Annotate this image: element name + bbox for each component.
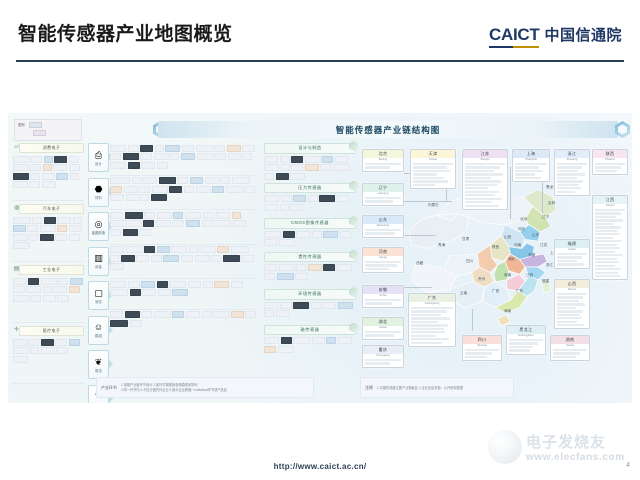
sensor-type-label: 设计与制造: [264, 143, 356, 154]
city-label: 广西: [492, 289, 499, 294]
city-label: 江苏: [540, 243, 547, 248]
sensor-type-block: 压力传感器: [264, 183, 356, 216]
brand-underline-blue: [489, 46, 513, 48]
sensor-type-block: 环境传感器: [264, 289, 356, 322]
note-lines: 1.按照产业链环节划分 2.各环节按照营收规模顺序排列 3.同一环节内 4.不区…: [121, 383, 227, 393]
industry-map-poster: 图例 智能传感器产业链结构图 ▱ 消费电子: [8, 113, 632, 403]
province-box[interactable]: 黑龙江 Heilongjiang: [506, 325, 546, 355]
algorithm-icon: ❦: [95, 357, 103, 367]
note-label: 产业环节: [97, 385, 121, 391]
province-company-list: [363, 259, 403, 272]
poster-legend: 图例: [14, 119, 82, 141]
city-label: 广东: [516, 289, 523, 294]
city-label: 青海: [438, 243, 445, 248]
province-company-list: [411, 161, 455, 188]
note-line: 3.同一环节内 4.不区分国内外企业 5.部分企业跨越一individual环节…: [121, 388, 227, 392]
hexagon-icon: [348, 249, 359, 261]
category-logo-grid: [12, 277, 84, 323]
city-label: 山东: [532, 233, 539, 238]
province-box[interactable]: 湖北 Hubei: [362, 317, 404, 340]
chain-node: ▥ 封装: [88, 247, 109, 276]
province-box[interactable]: 四川 Sichuan: [462, 335, 502, 361]
logo-row: [110, 176, 258, 211]
province-box[interactable]: 湖南 Hunan: [550, 335, 590, 361]
province-company-list: [363, 161, 403, 170]
chain-node-label: 设计: [95, 161, 102, 166]
watermark-logo-icon: [488, 430, 522, 464]
application-category-column: ▱ 消费电子 ◍ 汽车电子: [12, 143, 84, 387]
connector-line: [472, 309, 473, 331]
province-box[interactable]: 浙江 Zhejiang: [554, 149, 590, 196]
city-label: 江西: [526, 273, 533, 278]
package-icon: ▥: [94, 253, 103, 263]
poster-banner: 智能传感器产业链结构图: [158, 121, 618, 138]
city-label: 北京: [520, 217, 527, 222]
logo-row: [110, 279, 258, 310]
hexagon-icon-right: [612, 119, 632, 140]
factory-icon: ▤: [12, 263, 21, 274]
city-label: 云南: [460, 291, 467, 296]
category-block: ✛ 医疗电子: [12, 326, 84, 384]
brand-abbreviation: CAICT: [489, 25, 539, 48]
province-box[interactable]: 广东 Guangdong: [408, 293, 456, 347]
hexagon-icon: [348, 322, 359, 334]
sensor-type-block: 惯性传感器: [264, 252, 356, 287]
note-box-industry: 产业环节 1.按照产业链环节划分 2.各环节按照营收规模顺序排列 3.同一环节内…: [96, 377, 314, 398]
city-label: 福建: [542, 279, 549, 284]
legend-swatch-company: [33, 130, 46, 136]
province-company-list: [363, 195, 403, 204]
design-icon: ⎙: [95, 150, 102, 160]
province-box[interactable]: 山东 Shandong: [362, 215, 404, 238]
value-chain-column: ⎙ 设计 ⬣ 材料 ◎ 晶圆制造 ▥ 封装 ▢ 测试 ☺ 模组 ❦ 算法 ✎ 整: [88, 143, 107, 403]
brand-name-cn: 中国信通院: [544, 24, 622, 45]
medical-icon: ✛: [12, 324, 21, 335]
city-label: 湖南: [504, 273, 511, 278]
sensor-type-logos: [264, 156, 356, 180]
company-logo-rows: [110, 143, 258, 339]
city-label: 海南: [504, 309, 511, 314]
province-company-list: [409, 305, 455, 346]
province-box[interactable]: 天津 Tianjin: [410, 149, 456, 189]
wafer-icon: ◎: [95, 219, 103, 229]
poster-banner-title: 智能传感器产业链结构图: [158, 121, 618, 138]
city-label: 四川: [466, 259, 473, 264]
province-company-list: [463, 347, 501, 360]
watermark-url: www.elecfans.com: [526, 452, 625, 463]
category-label: 医疗电子: [19, 326, 84, 336]
material-icon: ⬣: [95, 184, 103, 194]
province-box[interactable]: 辽宁 Liaoning: [362, 183, 404, 206]
caict-logo: CAICT 中国信通院: [489, 24, 622, 48]
sensor-type-column: 设计与制造 压力传感器 CMOS图像传感器: [264, 143, 356, 362]
chain-node-label: 封装: [95, 264, 102, 269]
city-label: 河北: [518, 227, 525, 232]
province-company-list: [555, 161, 589, 195]
connector-line: [404, 287, 432, 288]
city-label: 浙江: [546, 263, 553, 268]
module-icon: ☺: [94, 322, 103, 332]
city-label: 辽宁: [542, 215, 549, 220]
category-label: 消费电子: [19, 143, 84, 153]
connector-line: [510, 167, 511, 219]
category-logo-grid: [12, 155, 84, 201]
city-label: 西藏: [416, 261, 423, 266]
city-label: 河南: [514, 243, 521, 248]
connector-line: [404, 201, 452, 202]
hexagon-icon: [348, 180, 359, 192]
logo-row: [110, 245, 258, 280]
province-company-list: [593, 161, 627, 174]
category-block: ◍ 汽车电子: [12, 204, 84, 262]
brand-underline-gold: [513, 46, 539, 48]
legend-row-2: [15, 128, 81, 136]
chain-node: ◎ 晶圆制造: [88, 212, 109, 241]
province-box[interactable]: 福建 Fujian: [554, 239, 590, 269]
legend-title: 图例: [18, 123, 25, 128]
province-box[interactable]: 上海 Shanghai: [512, 149, 550, 182]
city-label: 陕西: [492, 245, 499, 250]
province-box[interactable]: 河南 Henan: [362, 247, 404, 273]
connector-line: [404, 235, 436, 236]
sensor-type-block: 设计与制造: [264, 143, 356, 180]
hexagon-icon: [348, 215, 359, 227]
logo-row: [110, 310, 258, 340]
chain-node: ▢ 测试: [88, 281, 109, 310]
city-label: 吉林: [548, 201, 555, 206]
province-box[interactable]: 江苏 Jiangsu: [462, 149, 508, 210]
city-label: 湖北: [508, 257, 515, 262]
city-label: 安徽: [528, 253, 535, 258]
chain-node-label: 材料: [95, 195, 102, 200]
sensor-type-block: CMOS图像传感器: [264, 218, 356, 249]
hexagon-icon: [348, 140, 359, 152]
city-label: 内蒙古: [428, 203, 439, 208]
brand-abbr-text: CAICT: [489, 25, 539, 44]
category-label: 工业电子: [19, 265, 84, 275]
province-box[interactable]: 重庆 Chongqing: [362, 345, 404, 368]
note-lines: 1.中国传感器主要产业集聚区 2.企业信息来源：公开资料整理: [377, 386, 463, 390]
province-company-list: [463, 161, 507, 209]
china-regional-map-area: 内蒙古 新疆 黑龙江 吉林 辽宁 北京 河北 山西 山东 青海 甘肃 陕西 河南…: [360, 139, 630, 375]
note-label: 注释: [361, 385, 377, 391]
sensor-type-label: 磁传感器: [264, 325, 356, 336]
hexagon-icon: [348, 286, 359, 298]
category-logo-grid: [12, 216, 84, 262]
sensor-type-block: 磁传感器: [264, 325, 356, 360]
chain-node: ⎙ 设计: [88, 143, 109, 172]
province-company-list: [507, 337, 545, 353]
city-label: 贵州: [478, 277, 485, 282]
chain-node: ⬣ 材料: [88, 178, 109, 207]
sensor-type-label: CMOS图像传感器: [264, 218, 356, 229]
elecfans-watermark: 电子发烧友 www.elecfans.com: [486, 424, 632, 474]
page-number: 4: [626, 462, 630, 469]
province-company-list: [363, 357, 403, 366]
phone-icon: ▱: [12, 141, 21, 152]
category-logo-grid: [12, 338, 84, 384]
province-box[interactable]: 安徽 Anhui: [362, 285, 404, 308]
category-block: ▤ 工业电子: [12, 265, 84, 323]
category-label: 汽车电子: [19, 204, 84, 214]
chain-node-label: 算法: [95, 368, 102, 373]
category-block: ▱ 消费电子: [12, 143, 84, 201]
legend-row-1: 图例: [15, 120, 81, 128]
province-box[interactable]: 江西 Jiangxi: [592, 195, 628, 280]
province-company-list: [555, 291, 589, 328]
province-box[interactable]: 北京 Beijing: [362, 149, 404, 172]
sensor-type-logos: [264, 264, 356, 286]
chain-node-label: 整机应用: [92, 402, 106, 403]
logo-row: [110, 210, 258, 245]
page-title: 智能传感器产业地图概览: [18, 22, 233, 48]
province-company-list: [551, 347, 589, 360]
province-box[interactable]: 山西 Shanxi: [554, 279, 590, 329]
sensor-type-logos: [264, 231, 356, 249]
sensor-type-logos: [264, 302, 356, 322]
province-company-list: [363, 297, 403, 306]
city-label: 山西: [504, 235, 511, 240]
note-line: 1.中国传感器主要产业集聚区 2.企业信息来源：公开资料整理: [377, 386, 463, 390]
legend-swatch-stage: [29, 122, 42, 128]
city-label: 甘肃: [462, 237, 469, 242]
sensor-type-logos: [264, 337, 356, 359]
chain-node-label: 测试: [95, 299, 102, 304]
chain-node: ❦ 算法: [88, 350, 109, 379]
province-box[interactable]: 陕西 Shaanxi: [592, 149, 628, 175]
province-company-list: [363, 227, 403, 236]
note-box-source: 注释 1.中国传感器主要产业集聚区 2.企业信息来源：公开资料整理: [360, 377, 514, 398]
province-company-list: [555, 251, 589, 267]
note-line: 1.按照产业链环节划分 2.各环节按照营收规模顺序排列: [121, 383, 227, 387]
chain-node-label: 晶圆制造: [92, 230, 106, 235]
chain-node: ☺ 模组: [88, 316, 109, 345]
sensor-type-label: 惯性传感器: [264, 252, 356, 263]
slide-header: 智能传感器产业地图概览 CAICT 中国信通院: [0, 0, 640, 62]
province-company-list: [513, 161, 549, 181]
province-company-list: [363, 329, 403, 338]
watermark-name-cn: 电子发烧友: [526, 431, 606, 452]
logo-row: [110, 143, 258, 176]
sensor-type-label: 压力传感器: [264, 183, 356, 194]
header-divider: [16, 60, 624, 62]
sensor-type-logos: [264, 195, 356, 215]
chain-node-label: 模组: [95, 333, 102, 338]
sensor-type-label: 环境传感器: [264, 289, 356, 300]
test-icon: ▢: [94, 288, 103, 298]
province-company-list: [593, 207, 627, 279]
car-icon: ◍: [12, 202, 21, 213]
